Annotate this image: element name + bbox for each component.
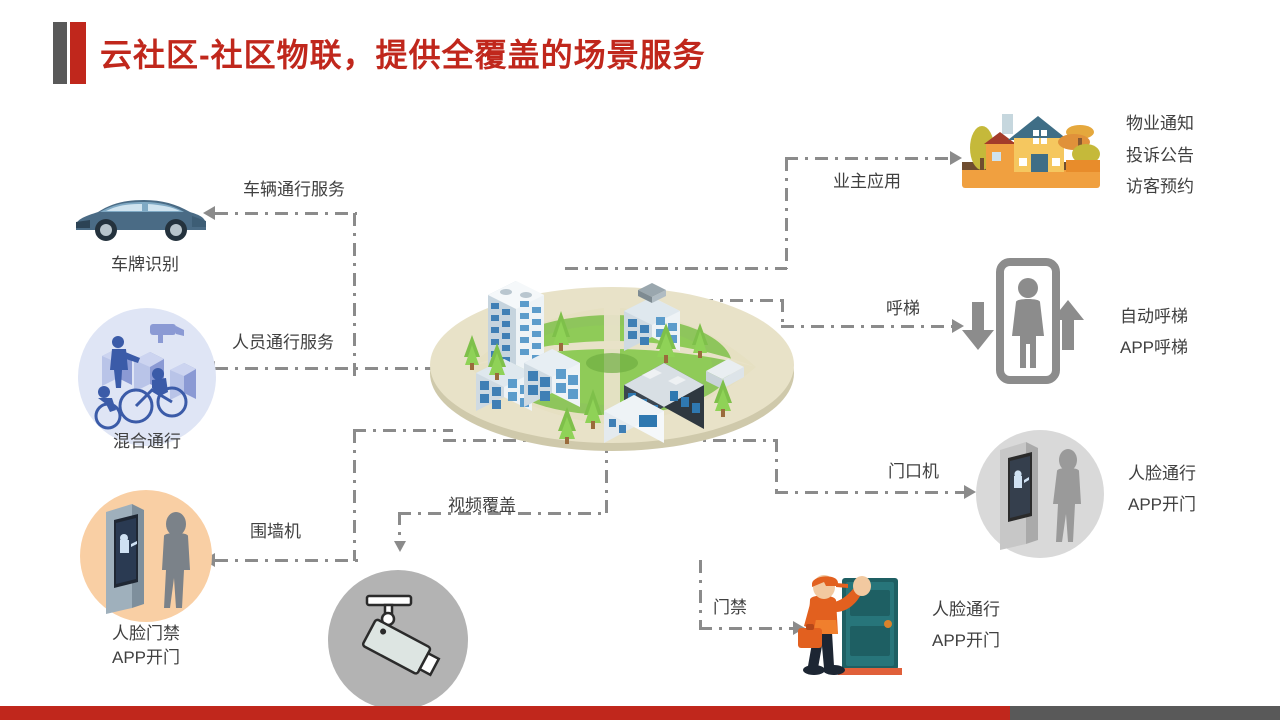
car-icon	[70, 192, 210, 244]
smart-community-illustration	[428, 245, 796, 460]
connector-label-wall: 围墙机	[250, 520, 301, 545]
car-caption: 车牌识别	[95, 253, 195, 278]
header-accent-bar-gray	[53, 22, 67, 84]
door-station-caption-line1: 人脸通行	[1128, 462, 1196, 487]
connector-people-horizontal	[215, 367, 447, 370]
page-title: 云社区-社区物联，提供全覆盖的场景服务	[100, 30, 706, 76]
house-caption-line1: 物业通知	[1126, 112, 1194, 137]
connector-owner-horizontal-upper	[785, 157, 950, 160]
mixed-traffic-icon	[88, 318, 208, 436]
door-station-captions: 人脸通行 APP开门	[1128, 462, 1196, 517]
footer-bar-red	[0, 706, 1010, 720]
face-gate-caption-line2: APP开门	[96, 646, 196, 670]
mixed-traffic-caption: 混合通行	[97, 430, 197, 455]
connector-wall-horizontal	[215, 559, 360, 562]
footer-bar-gray	[1010, 706, 1280, 720]
courier-door-caption-line2: APP开门	[932, 629, 1000, 654]
house-caption-line3: 访客预约	[1126, 175, 1194, 200]
connector-video-arrowhead	[394, 541, 406, 552]
elevator-caption-line2: APP呼梯	[1120, 336, 1188, 361]
connector-owner-arrowhead	[950, 151, 962, 165]
connector-label-people: 人员通行服务	[232, 331, 334, 356]
connector-access-horizontal	[699, 627, 795, 630]
connector-label-door: 门口机	[888, 460, 939, 485]
connector-vehicle-vertical	[353, 213, 356, 378]
connector-label-owner: 业主应用	[833, 170, 901, 195]
elevator-icon	[960, 258, 1096, 386]
house-caption-line2: 投诉公告	[1126, 144, 1194, 169]
face-gate-caption: 人脸门禁 APP开门	[96, 622, 196, 670]
connector-vehicle-horizontal	[215, 212, 357, 215]
connector-video-vertical-down	[398, 512, 401, 542]
courier-at-door-icon	[790, 570, 910, 680]
slide-canvas: 云社区-社区物联，提供全覆盖的场景服务 车辆通行服务 人员通行服务 围墙机 视频…	[0, 0, 1280, 720]
house-icon	[962, 110, 1100, 194]
face-terminal-icon	[98, 498, 208, 616]
elevator-caption-line1: 自动呼梯	[1120, 305, 1188, 330]
door-station-caption-line2: APP开门	[1128, 493, 1196, 518]
courier-door-captions: 人脸通行 APP开门	[932, 598, 1000, 653]
connector-wall-vertical	[353, 430, 356, 561]
connector-door-horizontal-b	[775, 491, 965, 494]
connector-door-arrowhead	[964, 485, 976, 499]
house-captions: 物业通知 投诉公告 访客预约	[1126, 112, 1194, 200]
connector-access-vertical	[699, 560, 702, 628]
header-accent-bar-red	[70, 22, 86, 84]
elevator-captions: 自动呼梯 APP呼梯	[1120, 305, 1188, 360]
courier-door-caption-line1: 人脸通行	[932, 598, 1000, 623]
door-station-icon	[994, 438, 1098, 552]
connector-label-video: 视频覆盖	[448, 494, 516, 519]
connector-label-vehicle: 车辆通行服务	[243, 178, 345, 203]
cctv-camera-icon	[345, 588, 451, 692]
connector-elevator-horizontal-b	[781, 325, 953, 328]
face-gate-caption-line1: 人脸门禁	[96, 622, 196, 646]
connector-label-access: 门禁	[713, 596, 747, 621]
connector-label-elevator: 呼梯	[886, 297, 920, 322]
